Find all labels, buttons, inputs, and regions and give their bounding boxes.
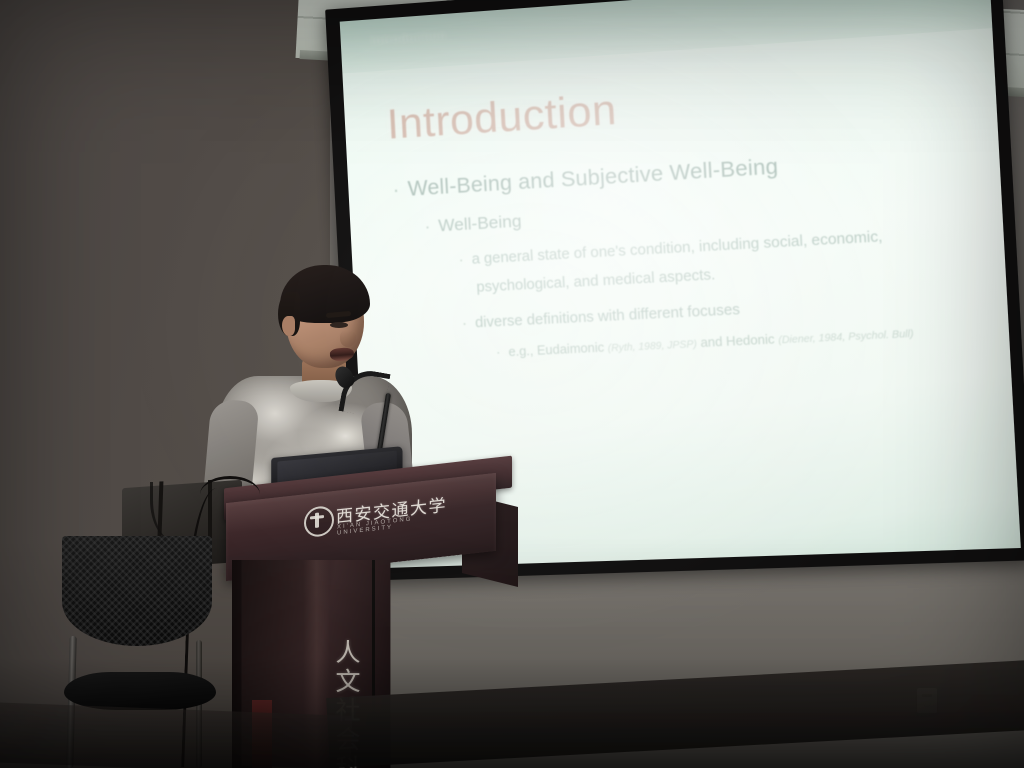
- floor-shadow: [0, 658, 1024, 768]
- slide-page-number: 4: [954, 0, 962, 3]
- presentation-photo-scene: Introduction 4 Introduction Well-Being a…: [0, 0, 1024, 768]
- bullet-level4-prefix: e.g., Eudaimonic: [508, 341, 608, 360]
- university-emblem-icon: [304, 505, 334, 538]
- citation-diener: (Diener, 1984, Psychol. Bull): [778, 329, 914, 347]
- chair-backrest: [62, 536, 212, 646]
- slide-body: Well-Being and Subjective Well-Being Wel…: [382, 143, 983, 365]
- presenter-mouth: [330, 347, 355, 362]
- slide-title: Introduction: [386, 85, 618, 149]
- presenter-eye: [330, 322, 348, 328]
- presenter-ear: [282, 316, 295, 336]
- citation-ryth: (Ryth, 1989, JPSP): [608, 339, 698, 354]
- bullet-level4-mid: and Hedonic: [696, 332, 778, 350]
- bullet-level3-a-line2-text: psychological, and medical aspects.: [476, 267, 716, 296]
